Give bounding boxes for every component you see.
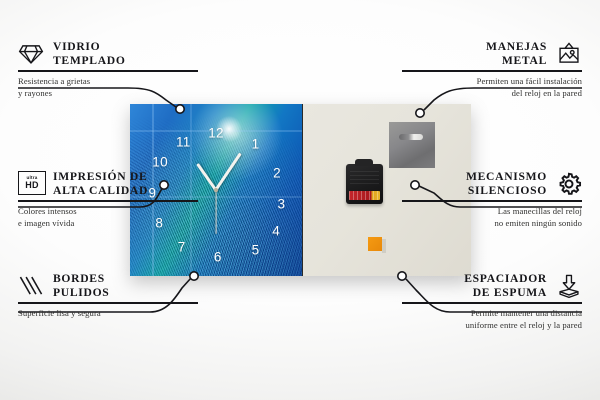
feature-title-line1: BORDES bbox=[53, 272, 109, 286]
clock-numeral: 6 bbox=[214, 250, 222, 265]
hanger-slot bbox=[399, 134, 423, 140]
feature-desc-line1: Colores intensos bbox=[18, 206, 198, 218]
metal-hanger-plate bbox=[389, 122, 435, 168]
feature-desc-line1: Permiten una fácil instalación bbox=[402, 76, 582, 88]
clock-numeral: 11 bbox=[176, 134, 191, 149]
ultra-hd-icon: ultra HD bbox=[18, 171, 44, 197]
feature-title-line2: SILENCIOSO bbox=[466, 184, 547, 198]
clock-second-hand bbox=[215, 188, 216, 234]
battery-label-ticks bbox=[349, 191, 380, 200]
feature-rule bbox=[18, 70, 198, 72]
feature-title-line1: IMPRESIÓN DE bbox=[53, 170, 148, 184]
feature-desc-line1: Superficie lisa y segura bbox=[18, 308, 198, 320]
clock-numeral: 10 bbox=[152, 155, 168, 170]
clock-numeral: 12 bbox=[208, 126, 224, 141]
feature-desc-line2: no emiten ningún sonido bbox=[402, 218, 582, 230]
feature-title: IMPRESIÓN DE ALTA CALIDAD bbox=[53, 170, 148, 197]
clock-numeral: 2 bbox=[273, 165, 281, 180]
clock-center-pin bbox=[214, 188, 218, 192]
feature-desc-line2: y rayones bbox=[18, 88, 198, 100]
feature-title-line1: MECANISMO bbox=[466, 170, 547, 184]
feature-manejas-metal: MANEJAS METAL Permiten una fácil instala… bbox=[402, 40, 582, 99]
movement-ribs bbox=[350, 171, 379, 185]
feature-desc-line2: uniforme entre el reloj y la pared bbox=[402, 320, 582, 332]
aa-battery bbox=[349, 191, 380, 200]
orange-foam-spacer bbox=[368, 237, 382, 251]
feature-title: VIDRIO TEMPLADO bbox=[53, 40, 126, 67]
feature-title-line1: MANEJAS bbox=[486, 40, 547, 54]
feature-mecanismo-silencioso: MECANISMO SILENCIOSO Las manecillas del … bbox=[402, 170, 582, 229]
feature-desc-line2: del reloj en la pared bbox=[402, 88, 582, 100]
feature-desc: Las manecillas del reloj no emiten ningú… bbox=[402, 206, 582, 229]
foam-spacer-shadow bbox=[382, 239, 386, 253]
feature-bordes-pulidos: BORDES PULIDOS Superficie lisa y segura bbox=[18, 272, 198, 320]
feature-rule bbox=[18, 302, 198, 304]
feature-rule bbox=[402, 200, 582, 202]
feature-title-line2: DE ESPUMA bbox=[464, 286, 547, 300]
feature-desc: Colores intensos e imagen vívida bbox=[18, 206, 198, 229]
feature-title-line1: VIDRIO bbox=[53, 40, 126, 54]
feature-title-line1: ESPACIADOR bbox=[464, 272, 547, 286]
feature-desc: Permiten una fácil instalación del reloj… bbox=[402, 76, 582, 99]
clock-numeral: 7 bbox=[178, 239, 186, 254]
feature-desc: Resistencia a grietas y rayones bbox=[18, 76, 198, 99]
clock-numeral: 5 bbox=[252, 243, 260, 258]
feature-desc-line2: e imagen vívida bbox=[18, 218, 198, 230]
feature-title-line2: METAL bbox=[486, 54, 547, 68]
feature-impresion-alta-calidad: ultra HD IMPRESIÓN DE ALTA CALIDAD Color… bbox=[18, 170, 198, 229]
feature-espaciador-espuma: ESPACIADOR DE ESPUMA Permite mantener un… bbox=[402, 272, 582, 331]
clock-numeral: 3 bbox=[277, 196, 285, 211]
quartz-clock-movement bbox=[346, 164, 383, 204]
feature-desc-line1: Resistencia a grietas bbox=[18, 76, 198, 88]
clock-numeral: 4 bbox=[272, 224, 280, 239]
feature-rule bbox=[402, 302, 582, 304]
feature-title-line2: PULIDOS bbox=[53, 286, 109, 300]
clock-numeral: 1 bbox=[252, 136, 260, 151]
feature-title-line2: ALTA CALIDAD bbox=[53, 184, 148, 198]
diamond-icon bbox=[18, 41, 44, 67]
feature-desc-line1: Las manecillas del reloj bbox=[402, 206, 582, 218]
feature-title: MANEJAS METAL bbox=[486, 40, 547, 67]
feature-rule bbox=[18, 200, 198, 202]
feature-desc-line1: Permite mantener una distancia bbox=[402, 308, 582, 320]
ultra-hd-icon-main-text: HD bbox=[25, 181, 38, 190]
feature-title: ESPACIADOR DE ESPUMA bbox=[464, 272, 547, 299]
feature-vidrio-templado: VIDRIO TEMPLADO Resistencia a grietas y … bbox=[18, 40, 198, 99]
gear-icon bbox=[556, 171, 582, 197]
infographic-canvas: 12 1 2 3 4 5 6 7 8 9 10 11 bbox=[0, 0, 600, 400]
foam-spacer-icon bbox=[556, 273, 582, 299]
feature-desc: Permite mantener una distancia uniforme … bbox=[402, 308, 582, 331]
feature-desc: Superficie lisa y segura bbox=[18, 308, 198, 320]
feature-title-line2: TEMPLADO bbox=[53, 54, 126, 68]
movement-hanger-tab bbox=[355, 159, 373, 166]
picture-hanger-icon bbox=[556, 41, 582, 67]
polished-edges-icon bbox=[18, 273, 44, 299]
feature-title: BORDES PULIDOS bbox=[53, 272, 109, 299]
feature-title: MECANISMO SILENCIOSO bbox=[466, 170, 547, 197]
feature-rule bbox=[402, 70, 582, 72]
